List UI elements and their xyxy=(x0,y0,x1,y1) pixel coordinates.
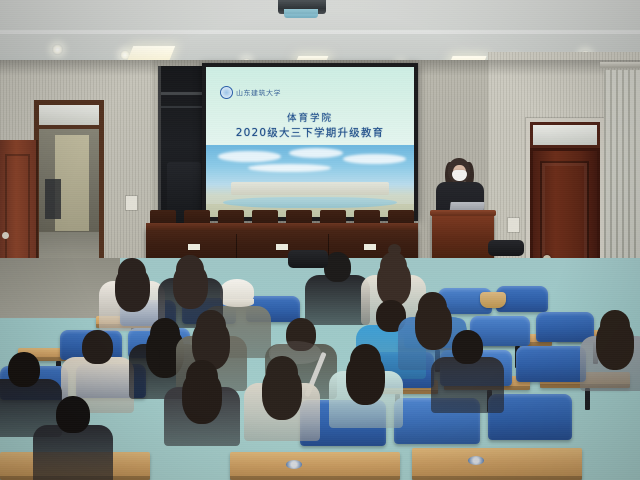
right-window xyxy=(604,70,640,270)
desk-leg xyxy=(585,388,590,410)
doorway-transom xyxy=(39,105,99,129)
name-card xyxy=(364,244,376,250)
university-emblem-icon xyxy=(220,86,233,99)
student-head xyxy=(186,360,218,395)
slide-campus-building xyxy=(231,182,389,195)
light-switch-right[interactable] xyxy=(508,218,519,232)
head-table-top xyxy=(146,223,418,230)
slide-title: 体育学院 xyxy=(206,110,414,124)
curtain-rail xyxy=(600,62,640,68)
cloud-shape xyxy=(218,151,280,163)
student-ponytail xyxy=(159,346,171,377)
desk-sticker xyxy=(286,460,302,469)
ceiling-band xyxy=(0,30,640,34)
bag xyxy=(488,240,524,256)
student-torso xyxy=(431,357,504,413)
student-head xyxy=(350,344,381,378)
bag xyxy=(288,250,328,268)
right-door-transom xyxy=(530,122,600,148)
student-head xyxy=(196,310,226,343)
student-desk xyxy=(412,448,582,480)
projector-icon xyxy=(278,0,326,14)
student-head xyxy=(600,310,630,343)
cloud-shape xyxy=(289,148,343,158)
wicker-basket xyxy=(480,292,506,308)
podium-top xyxy=(430,210,496,216)
student-desk xyxy=(230,452,400,480)
student-head xyxy=(452,330,483,364)
light-switch-left[interactable] xyxy=(126,196,137,210)
student-head xyxy=(266,356,298,391)
presenter xyxy=(428,158,494,254)
student-hair-bun xyxy=(388,244,401,256)
alcove-rail-lower xyxy=(161,106,207,108)
student-head xyxy=(8,352,40,387)
downlight-icon xyxy=(52,44,63,55)
podium xyxy=(432,214,494,260)
slide-lake xyxy=(223,197,398,209)
lecture-hall-photo: 山东建筑大学 体育学院 2020级大三下学期升级教育 xyxy=(0,0,640,480)
slide-campus-photo xyxy=(206,145,414,217)
student-head xyxy=(380,252,407,282)
projection-screen: 山东建筑大学 体育学院 2020级大三下学期升级教育 xyxy=(202,63,418,221)
student-head xyxy=(56,396,90,433)
student-head xyxy=(176,255,204,285)
auditorium-seat xyxy=(516,346,586,382)
name-card xyxy=(276,244,288,250)
student-head xyxy=(418,292,447,324)
cap-brim xyxy=(222,299,254,307)
desk-sticker xyxy=(468,456,484,465)
projection-screen-surface: 山东建筑大学 体育学院 2020级大三下学期升级教育 xyxy=(206,67,414,217)
university-logo-text: 山东建筑大学 xyxy=(236,88,281,97)
cloud-shape xyxy=(343,154,405,165)
slide-subtitle: 2020级大三下学期升级教育 xyxy=(206,125,414,140)
student-torso xyxy=(33,425,113,480)
name-card xyxy=(188,244,200,250)
student-head xyxy=(82,330,113,364)
university-logo: 山东建筑大学 xyxy=(220,86,281,99)
student-head xyxy=(118,258,146,288)
left-open-doorway[interactable] xyxy=(34,100,104,268)
corridor-chair xyxy=(45,179,61,219)
student-head xyxy=(324,252,351,282)
cloud-shape xyxy=(248,164,331,172)
left-door-knob-icon[interactable] xyxy=(2,232,9,239)
alcove-rail xyxy=(161,92,207,95)
